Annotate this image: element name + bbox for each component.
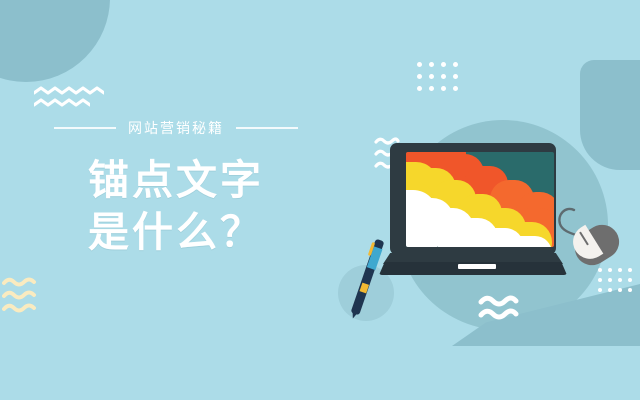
dot [453,86,458,91]
dot [429,74,434,79]
dot [618,278,622,282]
dot [453,74,458,79]
dot-grid-bottom-right [598,268,632,292]
wavy-lines-bottom-middle [478,294,520,320]
decor-rounded-rect-top-right [580,60,640,170]
dot [441,74,446,79]
eyebrow-rule-right [236,127,298,129]
dot-grid-top [417,62,458,91]
dot [608,288,612,292]
dot [429,62,434,67]
laptop-lid [390,143,556,255]
laptop-trackpad [458,264,496,269]
title-line-1: 锚点文字 [0,154,352,206]
dot [628,288,632,292]
dot [417,86,422,91]
dot [598,288,602,292]
dot [598,278,602,282]
dot [417,74,422,79]
eyebrow-rule-left [54,127,116,129]
laptop-screen [406,152,554,247]
pen-yellow-accent [360,283,370,294]
dot [628,268,632,272]
headline-block: 网站营销秘籍 锚点文字 是什么？ [0,118,352,259]
dot [608,278,612,282]
dot [618,288,622,292]
computer-mouse-illustration [566,222,622,270]
dot [429,86,434,91]
dot [417,62,422,67]
dot [453,62,458,67]
zigzag-waves-top-left [34,86,104,110]
dot [628,278,632,282]
eyebrow-text: 网站营销秘籍 [128,118,224,138]
decor-circle-top-left [0,0,110,82]
dot [441,86,446,91]
title-line-2: 是什么？ [0,206,352,258]
dot [441,62,446,67]
eyebrow-row: 网站营销秘籍 [0,118,352,138]
laptop-illustration [383,143,563,289]
marketing-banner: 网站营销秘籍 锚点文字 是什么？ [0,0,640,400]
wavy-lines-left-yellow [2,276,40,315]
